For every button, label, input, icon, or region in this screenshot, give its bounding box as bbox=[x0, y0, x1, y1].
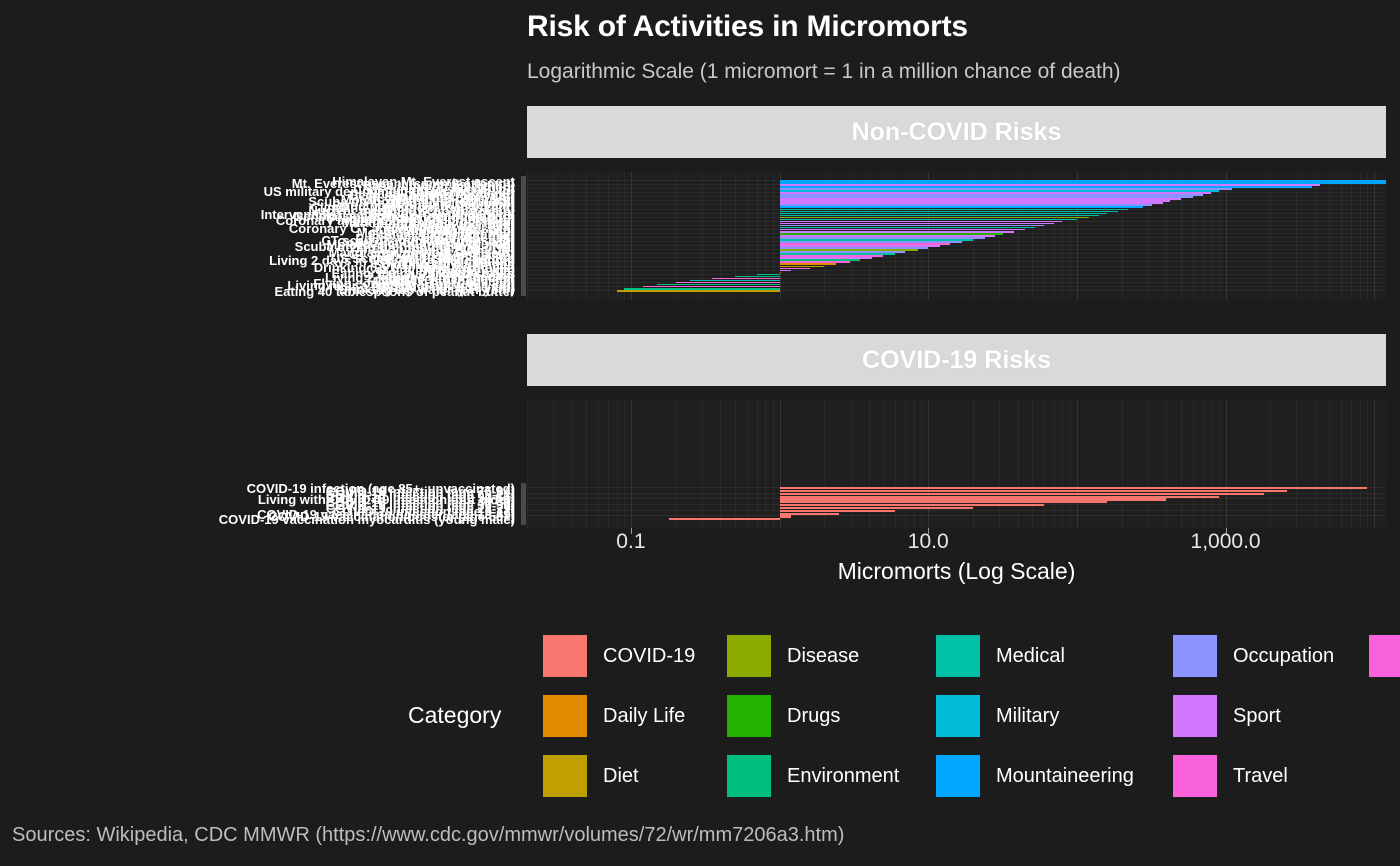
gridline-vertical bbox=[527, 400, 528, 528]
y-axis-tick-label: COVID-19 vaccination myocarditis (young … bbox=[219, 513, 515, 526]
gridline-vertical bbox=[1193, 400, 1194, 528]
legend-color-swatch bbox=[543, 755, 587, 797]
legend-item-label: Diet bbox=[603, 765, 639, 788]
legend-color-swatch bbox=[1173, 635, 1217, 677]
legend-color-swatch bbox=[1369, 635, 1400, 677]
gridline-vertical bbox=[1226, 400, 1227, 528]
gridline-vertical bbox=[702, 400, 703, 528]
gridline-vertical bbox=[765, 400, 766, 528]
gridline-vertical bbox=[586, 400, 587, 528]
gridline-horizontal bbox=[527, 510, 1386, 511]
gridline-horizontal bbox=[527, 261, 1386, 262]
gridline-vertical bbox=[973, 400, 974, 528]
gridline-vertical bbox=[1077, 400, 1078, 528]
facet-strip-label-covid: COVID-19 Risks bbox=[862, 346, 1051, 375]
gridline-vertical bbox=[1270, 400, 1271, 528]
gridline-horizontal bbox=[527, 515, 1386, 516]
gridline-horizontal bbox=[527, 274, 1386, 275]
facet-strip-non-covid: Non-COVID Risks bbox=[527, 106, 1386, 158]
gridline-vertical bbox=[572, 400, 573, 528]
gridline-vertical bbox=[1062, 400, 1063, 528]
gridline-vertical bbox=[1341, 400, 1342, 528]
legend-item-label: Mountaineering bbox=[996, 765, 1134, 788]
gridline-vertical bbox=[598, 400, 599, 528]
gridline-vertical bbox=[1044, 400, 1045, 528]
gridline-vertical bbox=[1329, 400, 1330, 528]
legend-color-swatch bbox=[1173, 755, 1217, 797]
gridline-vertical bbox=[1166, 400, 1167, 528]
legend-item-label: Occupation bbox=[1233, 645, 1334, 668]
legend-color-swatch bbox=[727, 695, 771, 737]
facet-strip-label-non-covid: Non-COVID Risks bbox=[852, 118, 1062, 147]
legend-color-swatch bbox=[727, 755, 771, 797]
y-axis-labels-non-covid: Himalayan Mt. Everest ascentMt. Everest … bbox=[0, 180, 515, 292]
plot-panel-non-covid bbox=[527, 172, 1386, 300]
gridline-vertical bbox=[773, 400, 774, 528]
gridline-vertical bbox=[1122, 400, 1123, 528]
gridline-vertical bbox=[631, 400, 632, 528]
legend-item-label: Environment bbox=[787, 765, 899, 788]
gridline-horizontal bbox=[527, 266, 1386, 267]
x-axis-tick-label: 1,000.0 bbox=[1191, 530, 1261, 554]
gridline-vertical bbox=[1296, 400, 1297, 528]
gridline-vertical bbox=[553, 400, 554, 528]
legend-title: Category bbox=[408, 702, 501, 729]
bar bbox=[617, 290, 780, 292]
legend-color-swatch bbox=[936, 635, 980, 677]
legend-item-label: Military bbox=[996, 705, 1059, 728]
gridline-vertical bbox=[757, 400, 758, 528]
gridline-vertical bbox=[608, 400, 609, 528]
gridline-horizontal bbox=[527, 245, 1386, 246]
plot-panel-covid bbox=[527, 400, 1386, 528]
gridline-vertical bbox=[1219, 400, 1220, 528]
legend-item-label: Disease bbox=[787, 645, 859, 668]
legend-item-label: Travel bbox=[1233, 765, 1288, 788]
gridline-vertical bbox=[747, 400, 748, 528]
legend-color-swatch bbox=[936, 755, 980, 797]
legend-color-swatch bbox=[543, 695, 587, 737]
bar bbox=[780, 272, 781, 274]
gridline-horizontal bbox=[527, 257, 1386, 258]
legend-color-swatch bbox=[727, 635, 771, 677]
legend-color-swatch bbox=[1173, 695, 1217, 737]
gridline-vertical bbox=[617, 400, 618, 528]
gridline-vertical bbox=[735, 400, 736, 528]
chart-subtitle: Logarithmic Scale (1 micromort = 1 in a … bbox=[527, 60, 1121, 84]
y-axis-tick-label: Eating 40 tablespoons of peanut butter bbox=[274, 285, 515, 298]
gridline-vertical bbox=[999, 400, 1000, 528]
legend-item-label: Sport bbox=[1233, 705, 1281, 728]
gridline-vertical bbox=[1351, 400, 1352, 528]
legend-item-label: Daily Life bbox=[603, 705, 685, 728]
legend-item-label: Drugs bbox=[787, 705, 840, 728]
gridline-vertical bbox=[1070, 400, 1071, 528]
gridline-vertical bbox=[1315, 400, 1316, 528]
facet-strip-covid: COVID-19 Risks bbox=[527, 334, 1386, 386]
x-axis-tick-label: 10.0 bbox=[908, 530, 949, 554]
x-axis-tick-label: 0.1 bbox=[616, 530, 645, 554]
gridline-vertical bbox=[1211, 400, 1212, 528]
gridline-vertical bbox=[1148, 400, 1149, 528]
gridline-horizontal bbox=[527, 249, 1386, 250]
bar bbox=[780, 270, 792, 272]
gridline-vertical bbox=[720, 400, 721, 528]
gridline-vertical bbox=[624, 400, 625, 528]
bar bbox=[669, 518, 780, 520]
y-axis-spine-covid bbox=[521, 483, 526, 525]
gridline-horizontal bbox=[527, 282, 1386, 283]
gridline-vertical bbox=[1360, 400, 1361, 528]
legend: COVID-19Daily LifeDietDiseaseDrugsEnviro… bbox=[0, 620, 1400, 800]
x-axis-title: Micromorts (Log Scale) bbox=[527, 558, 1386, 585]
legend-color-swatch bbox=[543, 635, 587, 677]
legend-item-label: COVID-19 bbox=[603, 645, 695, 668]
gridline-horizontal bbox=[527, 270, 1386, 271]
chart-caption: Sources: Wikipedia, CDC MMWR (https://ww… bbox=[12, 824, 844, 847]
bar bbox=[780, 515, 792, 517]
gridline-vertical bbox=[1032, 400, 1033, 528]
gridline-vertical bbox=[1181, 400, 1182, 528]
gridline-horizontal bbox=[527, 278, 1386, 279]
gridline-vertical bbox=[1054, 400, 1055, 528]
gridline-horizontal bbox=[527, 253, 1386, 254]
gridline-vertical bbox=[1367, 400, 1368, 528]
y-axis-spine-non-covid bbox=[521, 176, 526, 296]
gridline-vertical bbox=[1203, 400, 1204, 528]
gridline-vertical bbox=[1018, 400, 1019, 528]
legend-item-label: Medical bbox=[996, 645, 1065, 668]
gridline-vertical bbox=[1374, 400, 1375, 528]
page-title: Risk of Activities in Micromorts bbox=[527, 10, 968, 44]
legend-color-swatch bbox=[936, 695, 980, 737]
y-axis-labels-covid: COVID-19 infection (age 85+, unvaccinate… bbox=[0, 487, 515, 521]
gridline-vertical bbox=[676, 400, 677, 528]
